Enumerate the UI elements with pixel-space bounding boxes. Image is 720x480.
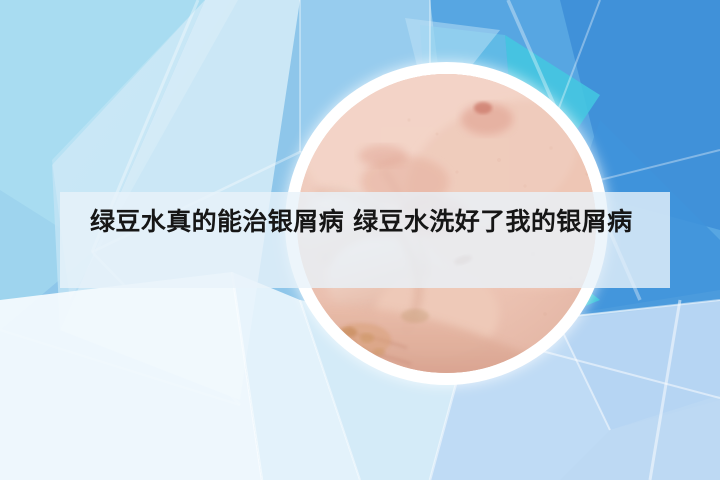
bg-shape-bottom-white <box>0 272 262 480</box>
page-title: 绿豆水真的能治银屑病 绿豆水洗好了我的银屑病 <box>90 203 650 241</box>
thumbnail-card: 绿豆水真的能治银屑病 绿豆水洗好了我的银屑病 <box>0 0 720 480</box>
caption-plate: 绿豆水真的能治银屑病 绿豆水洗好了我的银屑病 <box>60 192 670 288</box>
